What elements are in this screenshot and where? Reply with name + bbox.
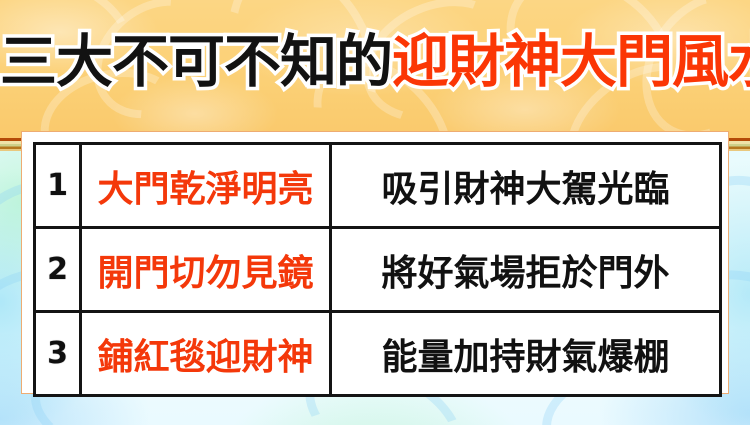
table-row: 2 開門切勿見鏡 將好氣場拒於門外 (35, 228, 721, 312)
page-title-red-segment: 迎財神大門風水 (392, 29, 750, 95)
row-key-point: 大門乾淨明亮 (81, 144, 331, 228)
row-number: 2 (35, 228, 81, 312)
row-description: 能量加持財氣爆棚 (331, 312, 721, 396)
row-description: 吸引財神大駕光臨 (331, 144, 721, 228)
content-card: 1 大門乾淨明亮 吸引財神大駕光臨 2 開門切勿見鏡 將好氣場拒於門外 3 鋪紅… (21, 131, 729, 394)
row-description: 將好氣場拒於門外 (331, 228, 721, 312)
page-title-dark-segment: 三大不可不知的 (0, 29, 392, 95)
row-key-point: 鋪紅毯迎財神 (81, 312, 331, 396)
page-title: 三大不可不知的迎財神大門風水 (0, 26, 750, 98)
table-row: 3 鋪紅毯迎財神 能量加持財氣爆棚 (35, 312, 721, 396)
table-row: 1 大門乾淨明亮 吸引財神大駕光臨 (35, 144, 721, 228)
row-number: 1 (35, 144, 81, 228)
row-key-point: 開門切勿見鏡 (81, 228, 331, 312)
row-number: 3 (35, 312, 81, 396)
tips-table: 1 大門乾淨明亮 吸引財神大駕光臨 2 開門切勿見鏡 將好氣場拒於門外 3 鋪紅… (33, 142, 722, 397)
infographic-stage: 三大不可不知的迎財神大門風水 1 大門乾淨明亮 吸引財神大駕光臨 2 開門切勿見… (0, 0, 750, 425)
